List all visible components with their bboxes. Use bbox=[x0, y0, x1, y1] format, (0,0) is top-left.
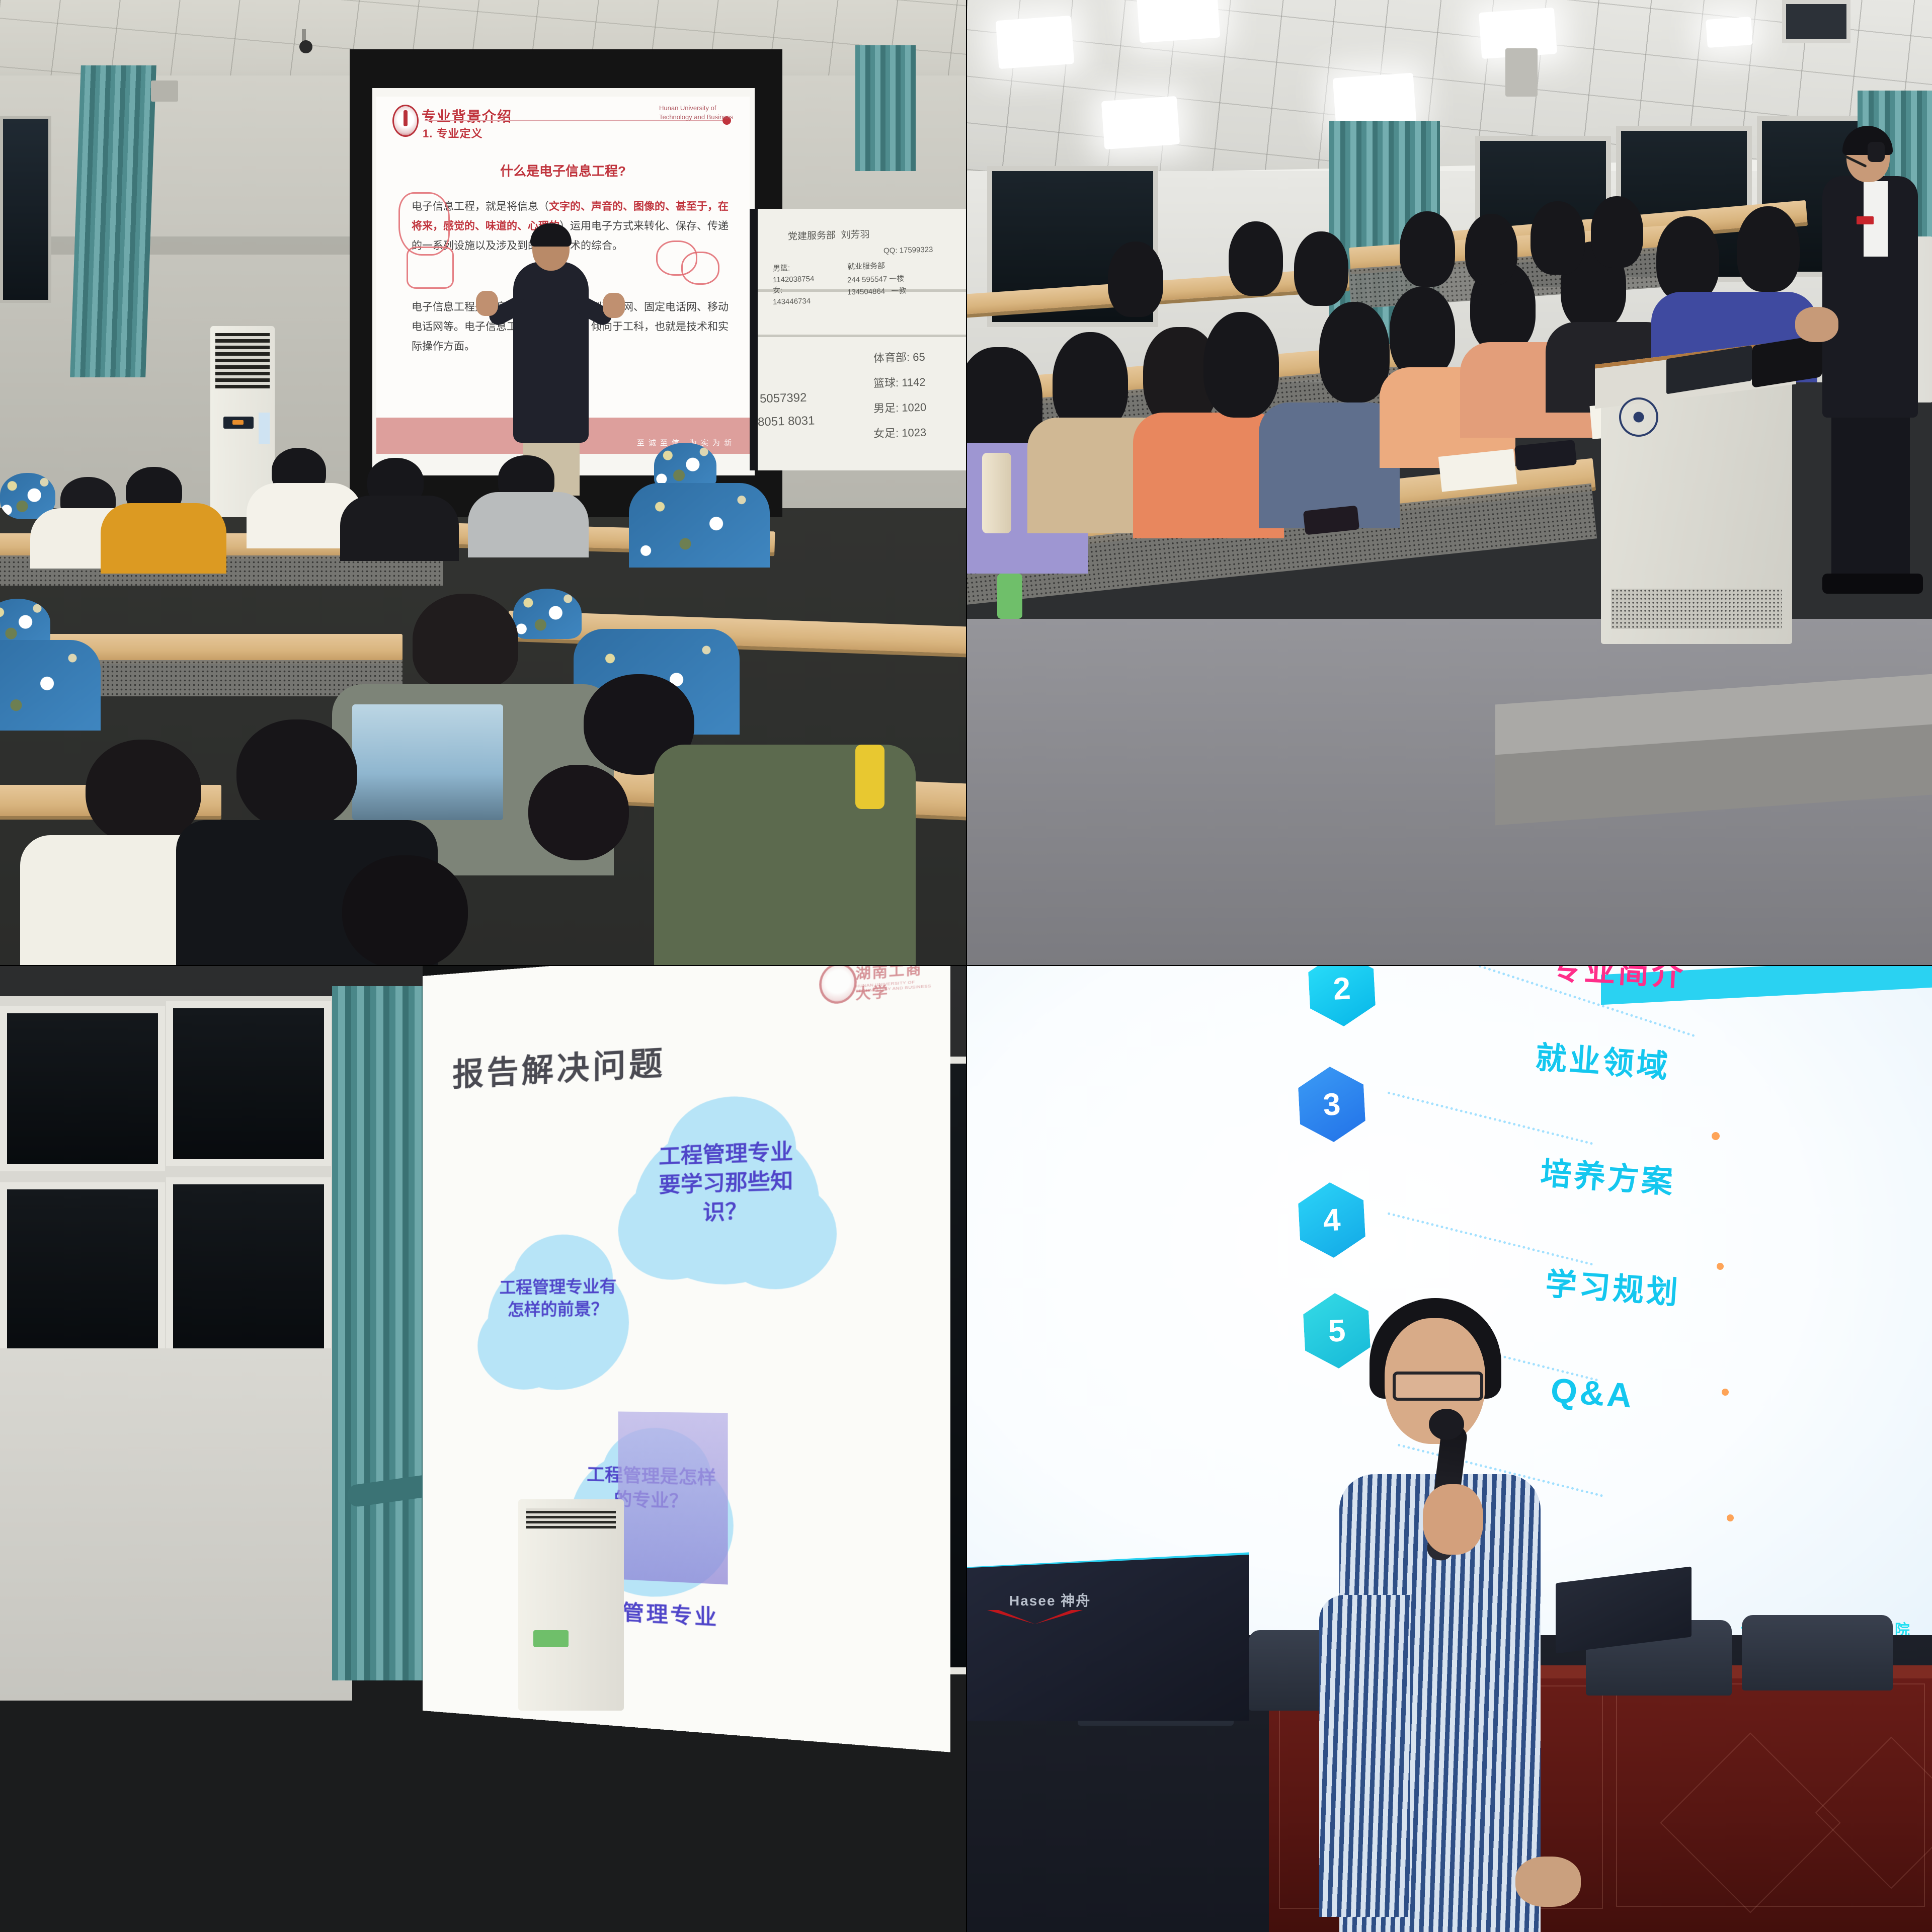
slide-report-problems: 湖南工商大学 HUNAN UNIVERSITY OF TECHNOLOGY AN… bbox=[423, 966, 950, 1752]
ceiling-light bbox=[1333, 73, 1416, 128]
panel-bottom-left: 湖南工商大学 HUNAN UNIVERSITY OF TECHNOLOGY AN… bbox=[0, 966, 966, 1932]
audience-cap-camo bbox=[513, 589, 582, 639]
agenda-label-2: 专业简介 bbox=[1550, 966, 1686, 995]
slide-speck bbox=[1712, 1132, 1720, 1140]
ac-sticker bbox=[533, 1630, 569, 1647]
laptop: Hasee 神舟 bbox=[967, 1555, 1249, 1721]
whiteboard-note-7: 244 595547 一楼 bbox=[847, 274, 905, 286]
speaker-arm-left bbox=[1319, 1595, 1410, 1917]
audience-head-large bbox=[236, 719, 357, 830]
whiteboard-note-1: QQ: 17599323 bbox=[883, 245, 933, 257]
whiteboard-note-9: 体育部: 65 bbox=[873, 349, 926, 367]
wall-speaker bbox=[1505, 48, 1538, 97]
bubble-text-1: 工程管理专业有怎样的前景？ bbox=[498, 1275, 618, 1321]
audience-head bbox=[1319, 302, 1390, 403]
whiteboard-note-11: 男足: 1020 bbox=[873, 399, 927, 417]
lecturer-badge bbox=[1857, 216, 1874, 224]
agenda-hex-2: 2 bbox=[1307, 966, 1377, 1028]
speaker-glasses bbox=[1393, 1372, 1483, 1401]
speaker-hand-right bbox=[1515, 1857, 1581, 1907]
audience-head-back bbox=[1591, 196, 1643, 268]
presenter-hand-left bbox=[476, 291, 498, 316]
laptop-accent-icon bbox=[987, 1610, 1083, 1624]
curtain-left bbox=[70, 65, 156, 377]
audience-head-back bbox=[1465, 214, 1517, 285]
ceiling-light bbox=[1101, 96, 1180, 149]
ceiling-vent bbox=[1782, 0, 1850, 43]
slide-image-placeholder bbox=[618, 1411, 728, 1584]
whiteboard-note-6: 就业服务部 bbox=[847, 261, 886, 273]
whiteboard-note-3: 1142038754 bbox=[773, 274, 815, 286]
audience-head bbox=[1737, 206, 1800, 292]
speaker-hand bbox=[1423, 1484, 1483, 1555]
window bbox=[0, 1182, 165, 1362]
ceiling-light bbox=[1706, 17, 1753, 48]
lower-wall bbox=[0, 1348, 352, 1701]
audience-head-back bbox=[1108, 242, 1163, 317]
drink-bottle bbox=[997, 574, 1022, 619]
audience-head bbox=[1656, 216, 1719, 302]
slide-title: 报告解决问题 bbox=[452, 1036, 666, 1095]
podium-vent bbox=[1611, 589, 1782, 629]
university-logo-icon bbox=[392, 105, 419, 137]
thermos-bottle bbox=[982, 453, 1011, 533]
whiteboard-note-10: 篮球: 1142 bbox=[873, 374, 926, 392]
curtain-right bbox=[855, 45, 916, 171]
whiteboard-note-8: 134504864 一教 bbox=[847, 285, 907, 298]
whiteboard-note-5: 143446734 bbox=[773, 296, 811, 308]
ceiling-light bbox=[1137, 0, 1221, 43]
audience-head-large bbox=[413, 594, 518, 689]
annotation-circle-4 bbox=[681, 252, 719, 285]
agenda-hex-5: 5 bbox=[1302, 1292, 1372, 1371]
tshirt-print bbox=[352, 704, 503, 820]
university-en-line2: Technology and Business bbox=[659, 113, 735, 122]
panel-bottom-right: 2 专业简介 就业领域 3 培养方案 4 学习规划 5 Q&A 计算机与信息工 bbox=[967, 966, 1932, 1932]
ceiling-camera-icon bbox=[299, 40, 312, 53]
agenda-label-qa: Q&A bbox=[1549, 1371, 1635, 1415]
audience-cap-camo bbox=[654, 443, 716, 488]
university-logo: 湖南工商大学 HUNAN UNIVERSITY OF TECHNOLOGY AN… bbox=[819, 966, 932, 1005]
audience-head bbox=[1390, 287, 1455, 377]
presenter-hand-right bbox=[603, 293, 625, 318]
audience-body-camo bbox=[0, 640, 101, 731]
audience-head-back bbox=[1531, 201, 1585, 275]
window bbox=[166, 1001, 331, 1166]
panel-top-right bbox=[967, 0, 1932, 965]
audience-head-back bbox=[1229, 221, 1283, 296]
slide-speck bbox=[1717, 1263, 1724, 1270]
lecturer-hand bbox=[1795, 307, 1838, 342]
whiteboard-note-13: 5057392 bbox=[760, 389, 807, 408]
audience-head-large bbox=[528, 765, 629, 860]
panel-top-left: 专业背景介绍 1. 专业定义 Hunan University of Techn… bbox=[0, 0, 966, 965]
presenter-torso bbox=[513, 262, 589, 443]
slide-speck bbox=[1727, 1514, 1734, 1521]
whiteboard-note-0: 党建服务部 刘芳羽 bbox=[788, 228, 870, 244]
university-en-line1: Hunan University of bbox=[659, 104, 735, 113]
audience-body bbox=[468, 492, 589, 557]
audience-body-camo bbox=[629, 483, 770, 568]
agenda-hex-4: 4 bbox=[1297, 1181, 1366, 1260]
air-conditioner bbox=[518, 1499, 624, 1711]
lecturer-shoes bbox=[1822, 574, 1923, 594]
audience-head-back bbox=[1400, 211, 1455, 287]
slide-header-title: 专业背景介绍 bbox=[422, 106, 512, 126]
lecturer-legs bbox=[1831, 408, 1910, 579]
chair bbox=[1742, 1615, 1893, 1691]
whiteboard-note-4: 女: bbox=[773, 285, 783, 296]
whiteboard: 党建服务部 刘芳羽 QQ: 17599323 男篮: 1142038754 女:… bbox=[750, 209, 966, 470]
window bbox=[166, 1177, 331, 1362]
audience-body bbox=[340, 496, 459, 561]
audience-head bbox=[1203, 312, 1279, 418]
microphone-head bbox=[1429, 1409, 1464, 1440]
whiteboard-note-14: 8051 8031 bbox=[758, 413, 815, 432]
audience-body bbox=[101, 503, 226, 574]
whiteboard-note-2: 男篮: bbox=[773, 263, 790, 275]
slide-header-subtitle: 1. 专业定义 bbox=[423, 125, 482, 141]
window bbox=[0, 1006, 165, 1171]
agenda-dotline-3 bbox=[1388, 1212, 1593, 1265]
university-name-en: Hunan University of Technology and Busin… bbox=[659, 104, 735, 121]
bubble-text-2: 工程管理专业要学习那些知识？ bbox=[651, 1137, 802, 1228]
podium-brand-logo-icon bbox=[1619, 397, 1658, 437]
laptop-brand-label: Hasee 神舟 bbox=[1009, 1590, 1091, 1610]
annotation-circle-2 bbox=[407, 247, 454, 289]
slide-speck bbox=[1722, 1389, 1729, 1396]
whiteboard-note-12: 女足: 1023 bbox=[873, 425, 927, 442]
ceiling-light bbox=[996, 16, 1074, 69]
audience-head-back bbox=[1294, 231, 1348, 306]
slide-question: 什么是电子信息工程? bbox=[376, 161, 750, 180]
drink-bottle bbox=[855, 745, 884, 809]
window bbox=[0, 116, 51, 303]
agenda-dotline-2 bbox=[1388, 1091, 1593, 1145]
university-logo-icon bbox=[819, 966, 857, 1005]
agenda-hex-3: 3 bbox=[1297, 1065, 1366, 1144]
agenda-label-4: 培养方案 bbox=[1539, 1148, 1677, 1202]
headset-earpiece bbox=[1868, 142, 1885, 162]
agenda-label-5: 学习规划 bbox=[1544, 1258, 1682, 1313]
agenda-label-3: 就业领域 bbox=[1534, 1032, 1672, 1086]
audience-head-large bbox=[342, 855, 468, 965]
photo-collage: 专业背景介绍 1. 专业定义 Hunan University of Techn… bbox=[0, 0, 1932, 1932]
wall-speaker bbox=[151, 80, 178, 102]
